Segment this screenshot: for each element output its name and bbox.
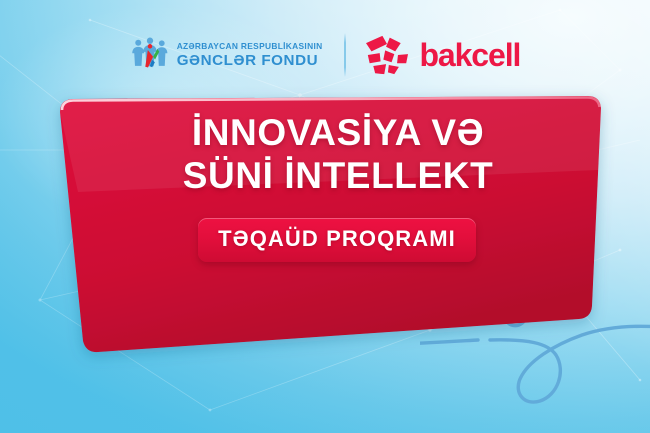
headline-line-1: İNNOVASİYA VƏ: [192, 112, 484, 153]
logo-bar: AZƏRBAYCAN RESPUBLİKASININ GƏNCLƏR FONDU…: [0, 26, 650, 84]
youth-fund-logo[interactable]: AZƏRBAYCAN RESPUBLİKASININ GƏNCLƏR FONDU: [130, 36, 323, 74]
banner-content: İNNOVASİYA VƏ SÜNİ İNTELLEKT TƏQAÜD PROQ…: [0, 112, 650, 262]
headline-line-2: SÜNİ İNTELLEKT: [183, 155, 494, 198]
program-badge-label: TƏQAÜD PROQRAMI: [218, 226, 456, 251]
logo-divider: [344, 33, 346, 77]
bakcell-wordmark: bakcell: [419, 39, 520, 71]
bakcell-star-icon: [364, 34, 410, 76]
youth-fund-line-1: AZƏRBAYCAN RESPUBLİKASININ: [177, 42, 323, 50]
bakcell-logo[interactable]: bakcell: [364, 34, 520, 76]
youth-fund-wordmark: AZƏRBAYCAN RESPUBLİKASININ GƏNCLƏR FONDU: [177, 42, 323, 68]
banner-canvas: İNNOVASİYA VƏ SÜNİ İNTELLEKT TƏQAÜD PROQ…: [0, 0, 650, 433]
youth-fund-line-2: GƏNCLƏR FONDU: [177, 53, 323, 68]
program-badge: TƏQAÜD PROQRAMI: [198, 218, 476, 262]
banner-headline: İNNOVASİYA VƏ SÜNİ İNTELLEKT: [157, 112, 494, 198]
people-group-icon: [130, 36, 170, 74]
